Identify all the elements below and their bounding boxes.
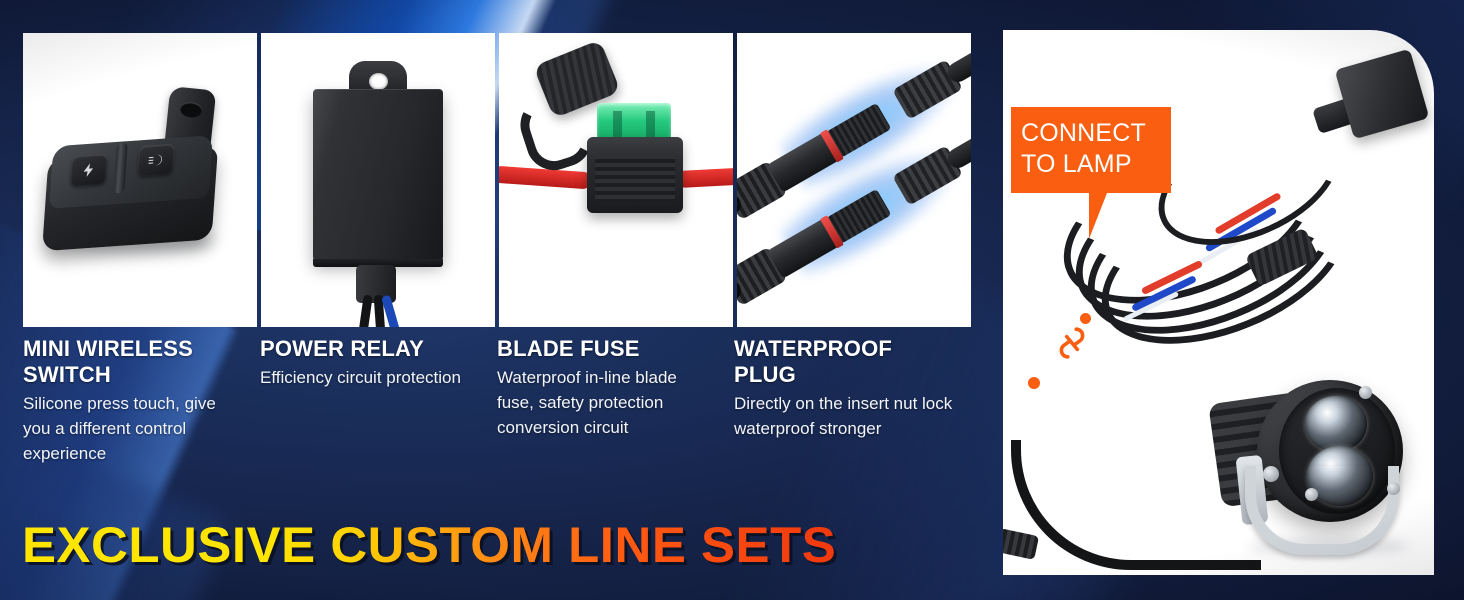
photo-power-relay <box>261 33 495 327</box>
callout-label: CONNECT TO LAMP <box>1011 107 1171 180</box>
infographic-banner: MINI WIRELESS SWITCH Silicone press touc… <box>0 0 1464 600</box>
led-lamp-illustration <box>1209 370 1424 555</box>
accent-dot-lower <box>1028 377 1040 389</box>
relay-body <box>313 89 443 261</box>
feature-caption-row: MINI WIRELESS SWITCH Silicone press touc… <box>23 336 973 496</box>
photo-mini-wireless-switch <box>23 33 257 327</box>
feature-description: Directly on the insert nut lock waterpro… <box>734 391 953 441</box>
lamp-pivot-screw <box>1263 466 1279 482</box>
feature-title: MINI WIRELESS SWITCH <box>23 336 242 388</box>
headline-block: EXCLUSIVE CUSTOM LINE SETS EXCLUSIVE CUS… <box>22 516 820 574</box>
lamp-screw-bottom-left <box>1305 488 1318 501</box>
harness-relay-box <box>1335 49 1430 140</box>
feature-item-blade-fuse: BLADE FUSE Waterproof in-line blade fuse… <box>497 336 734 496</box>
page-title: EXCLUSIVE CUSTOM LINE SETS <box>22 516 836 574</box>
fuse-holder-ribs <box>595 155 675 201</box>
photo-waterproof-plug <box>737 33 971 327</box>
connect-to-lamp-callout: CONNECT TO LAMP <box>1011 107 1171 193</box>
photo-blade-fuse <box>499 33 733 327</box>
chain-link-icon <box>1055 325 1089 361</box>
feature-description: Waterproof in-line blade fuse, safety pr… <box>497 365 716 440</box>
lamp-cord-plug <box>1003 528 1039 560</box>
lamp-screw-bottom-right <box>1387 482 1400 495</box>
feature-description: Silicone press touch, give you a differe… <box>23 391 242 466</box>
feature-title: WATERPROOF PLUG <box>734 336 953 388</box>
feature-title: POWER RELAY <box>260 336 479 362</box>
lamp-screw-top <box>1359 386 1372 399</box>
feature-item-mini-wireless-switch: MINI WIRELESS SWITCH Silicone press touc… <box>23 336 260 496</box>
lamp-connection-panel: CONNECT TO LAMP <box>1003 30 1434 575</box>
lamp-lens-upper <box>1305 396 1367 452</box>
feature-item-power-relay: POWER RELAY Efficiency circuit protectio… <box>260 336 497 496</box>
callout-tail <box>1089 193 1107 239</box>
accent-dot-upper <box>1080 313 1091 324</box>
headlight-icon <box>137 144 175 177</box>
fuse-wire-right-red <box>677 167 733 188</box>
feature-item-waterproof-plug: WATERPROOF PLUG Directly on the insert n… <box>734 336 971 496</box>
product-photo-strip <box>23 33 971 327</box>
feature-description: Efficiency circuit protection <box>260 365 479 390</box>
feature-title: BLADE FUSE <box>497 336 716 362</box>
lightning-bolt-icon <box>70 154 108 187</box>
